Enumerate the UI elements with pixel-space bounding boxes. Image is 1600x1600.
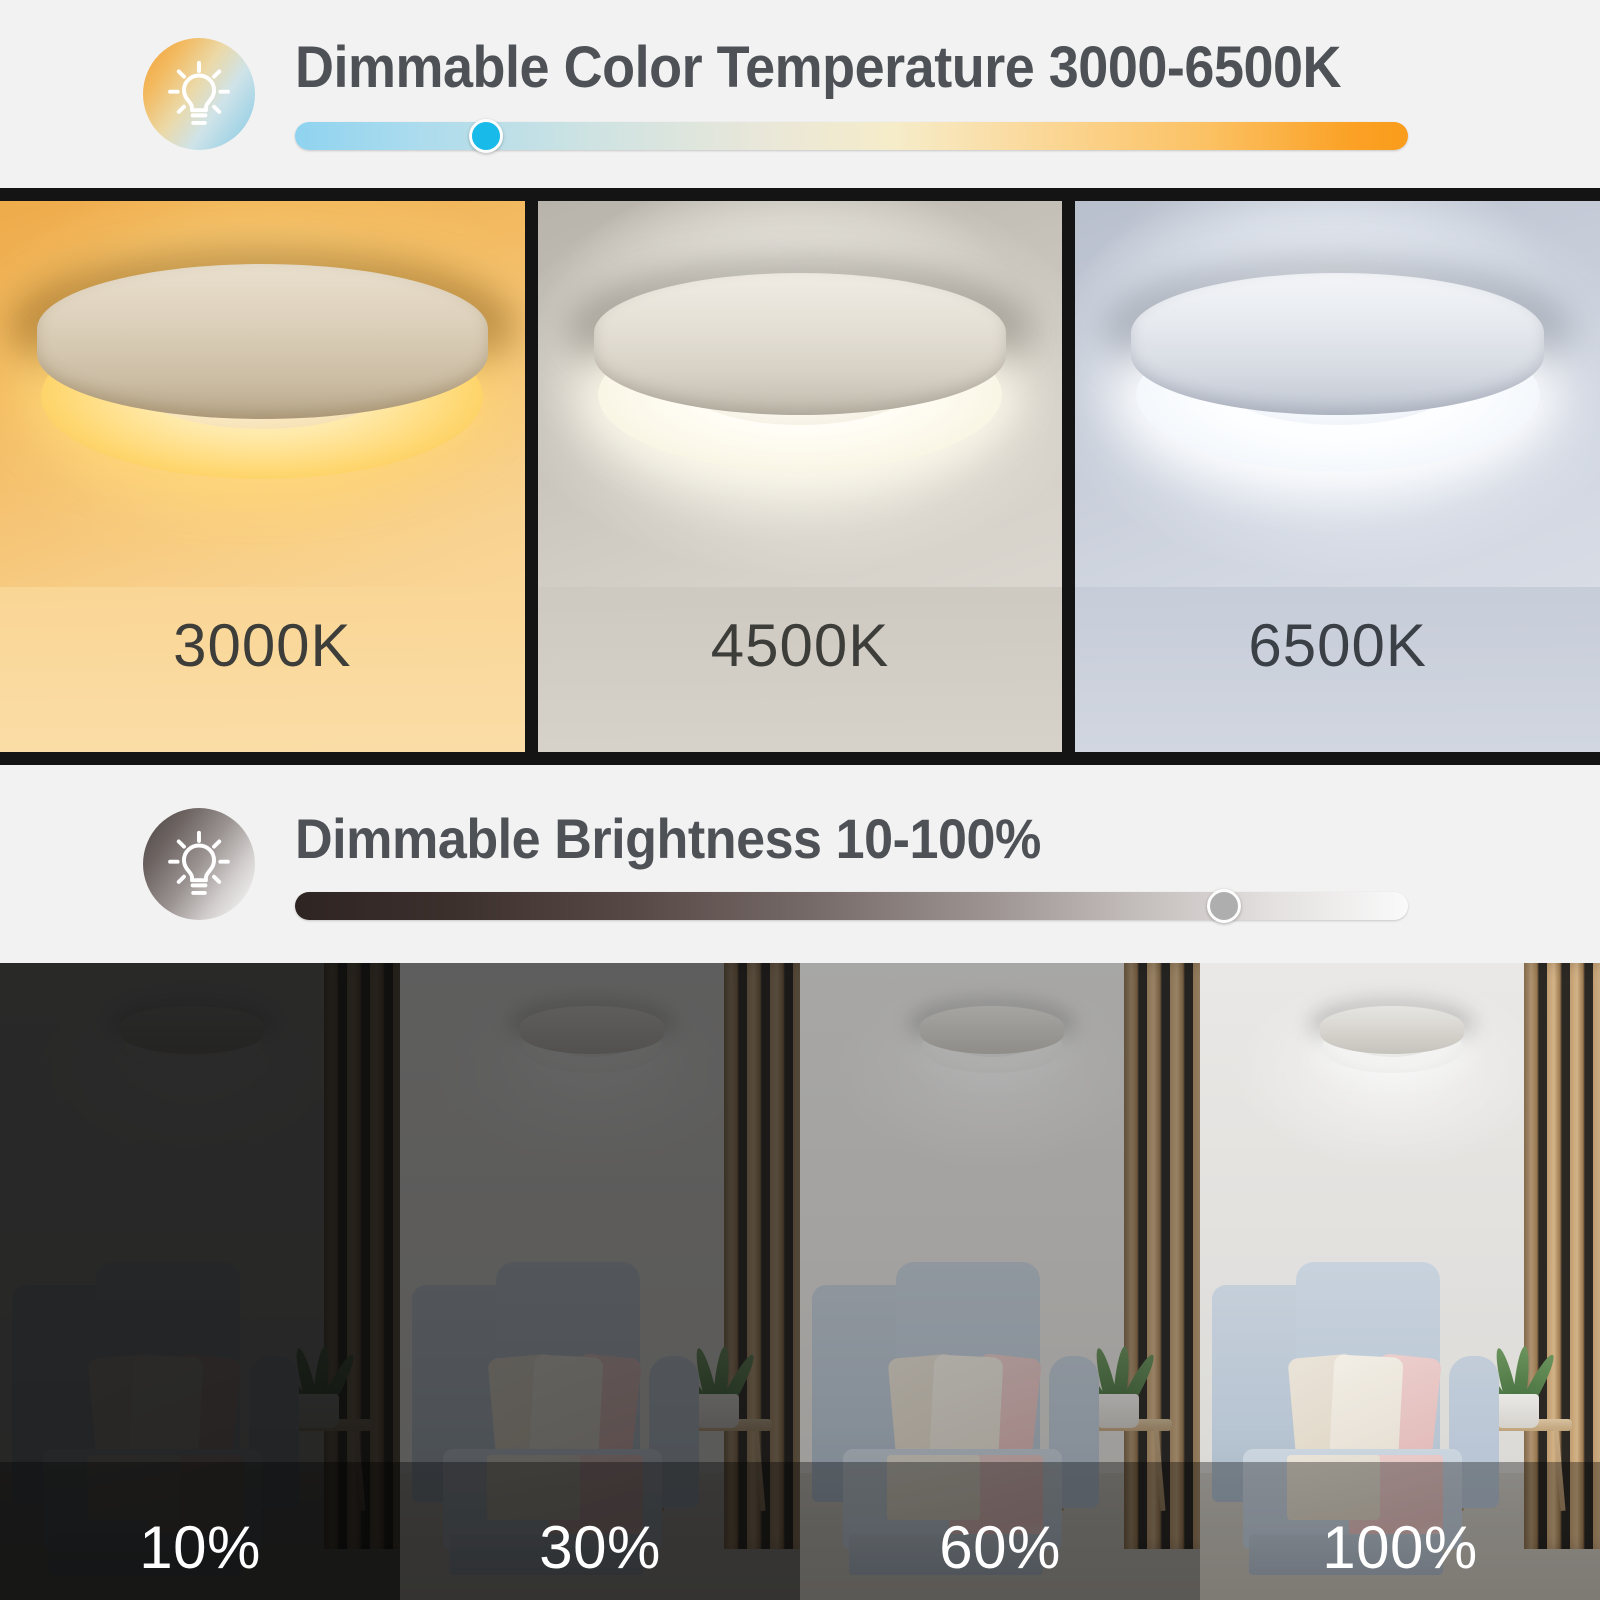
ceiling-lamp	[1317, 1001, 1467, 1079]
brightness-track[interactable]	[295, 892, 1408, 920]
lamp-drum-side	[120, 1006, 264, 1054]
cct-panel-3000k: 3000K	[0, 201, 525, 752]
lamp-drum-side	[1320, 1006, 1464, 1054]
lamp-body	[917, 1001, 1067, 1079]
lamp-body	[517, 1001, 667, 1079]
lamp-drum-side	[920, 1006, 1064, 1054]
lamp-body	[585, 259, 1015, 489]
brightness-header: Dimmable Brightness 10-100%	[0, 765, 1600, 963]
lightbulb-rays-icon	[143, 808, 255, 920]
brightness-label: 30%	[539, 1513, 661, 1582]
ceiling-lamp	[517, 1001, 667, 1079]
brightness-label: 10%	[139, 1513, 261, 1582]
cct-panel-4500k: 4500K	[538, 201, 1063, 752]
lamp-body	[27, 249, 497, 499]
cct-label: 3000K	[173, 611, 352, 680]
ceiling-lamp	[27, 249, 497, 499]
color-temperature-slider[interactable]	[295, 119, 1600, 153]
brightness-slider[interactable]	[295, 889, 1600, 923]
brightness-panels: 10%	[0, 963, 1600, 1600]
lamp-drum-side	[1131, 273, 1544, 416]
brightness-panel-60: 60%	[800, 963, 1200, 1600]
brightness-thumb[interactable]	[1207, 889, 1241, 923]
color-temperature-thumb[interactable]	[469, 119, 503, 153]
color-temperature-header: Dimmable Color Temperature 3000-6500K	[0, 0, 1600, 188]
cct-label: 4500K	[711, 611, 890, 680]
brightness-label: 100%	[1322, 1513, 1477, 1582]
ceiling-lamp	[917, 1001, 1067, 1079]
lamp-drum-side	[594, 273, 1007, 416]
ceiling-lamp	[1123, 259, 1553, 489]
color-temperature-title: Dimmable Color Temperature 3000-6500K	[295, 37, 1509, 99]
brightness-label: 60%	[939, 1513, 1061, 1582]
lamp-body	[1123, 259, 1553, 489]
lamp-body	[117, 1001, 267, 1079]
cct-panel-6500k: 6500K	[1075, 201, 1600, 752]
brightness-panel-30: 30%	[400, 963, 800, 1600]
color-temperature-track[interactable]	[295, 122, 1408, 150]
brightness-panel-10: 10%	[0, 963, 400, 1600]
lamp-drum-side	[37, 264, 488, 419]
product-infographic: Dimmable Color Temperature 3000-6500K 30…	[0, 0, 1600, 1600]
lamp-drum-side	[520, 1006, 664, 1054]
ceiling-lamp	[585, 259, 1015, 489]
lightbulb-rays-icon	[143, 38, 255, 150]
cct-label: 6500K	[1248, 611, 1427, 680]
ceiling-lamp	[117, 1001, 267, 1079]
brightness-title: Dimmable Brightness 10-100%	[295, 809, 1509, 869]
brightness-panel-100: 100%	[1200, 963, 1600, 1600]
lamp-body	[1317, 1001, 1467, 1079]
color-temperature-panels: 3000K 4500K	[0, 188, 1600, 765]
